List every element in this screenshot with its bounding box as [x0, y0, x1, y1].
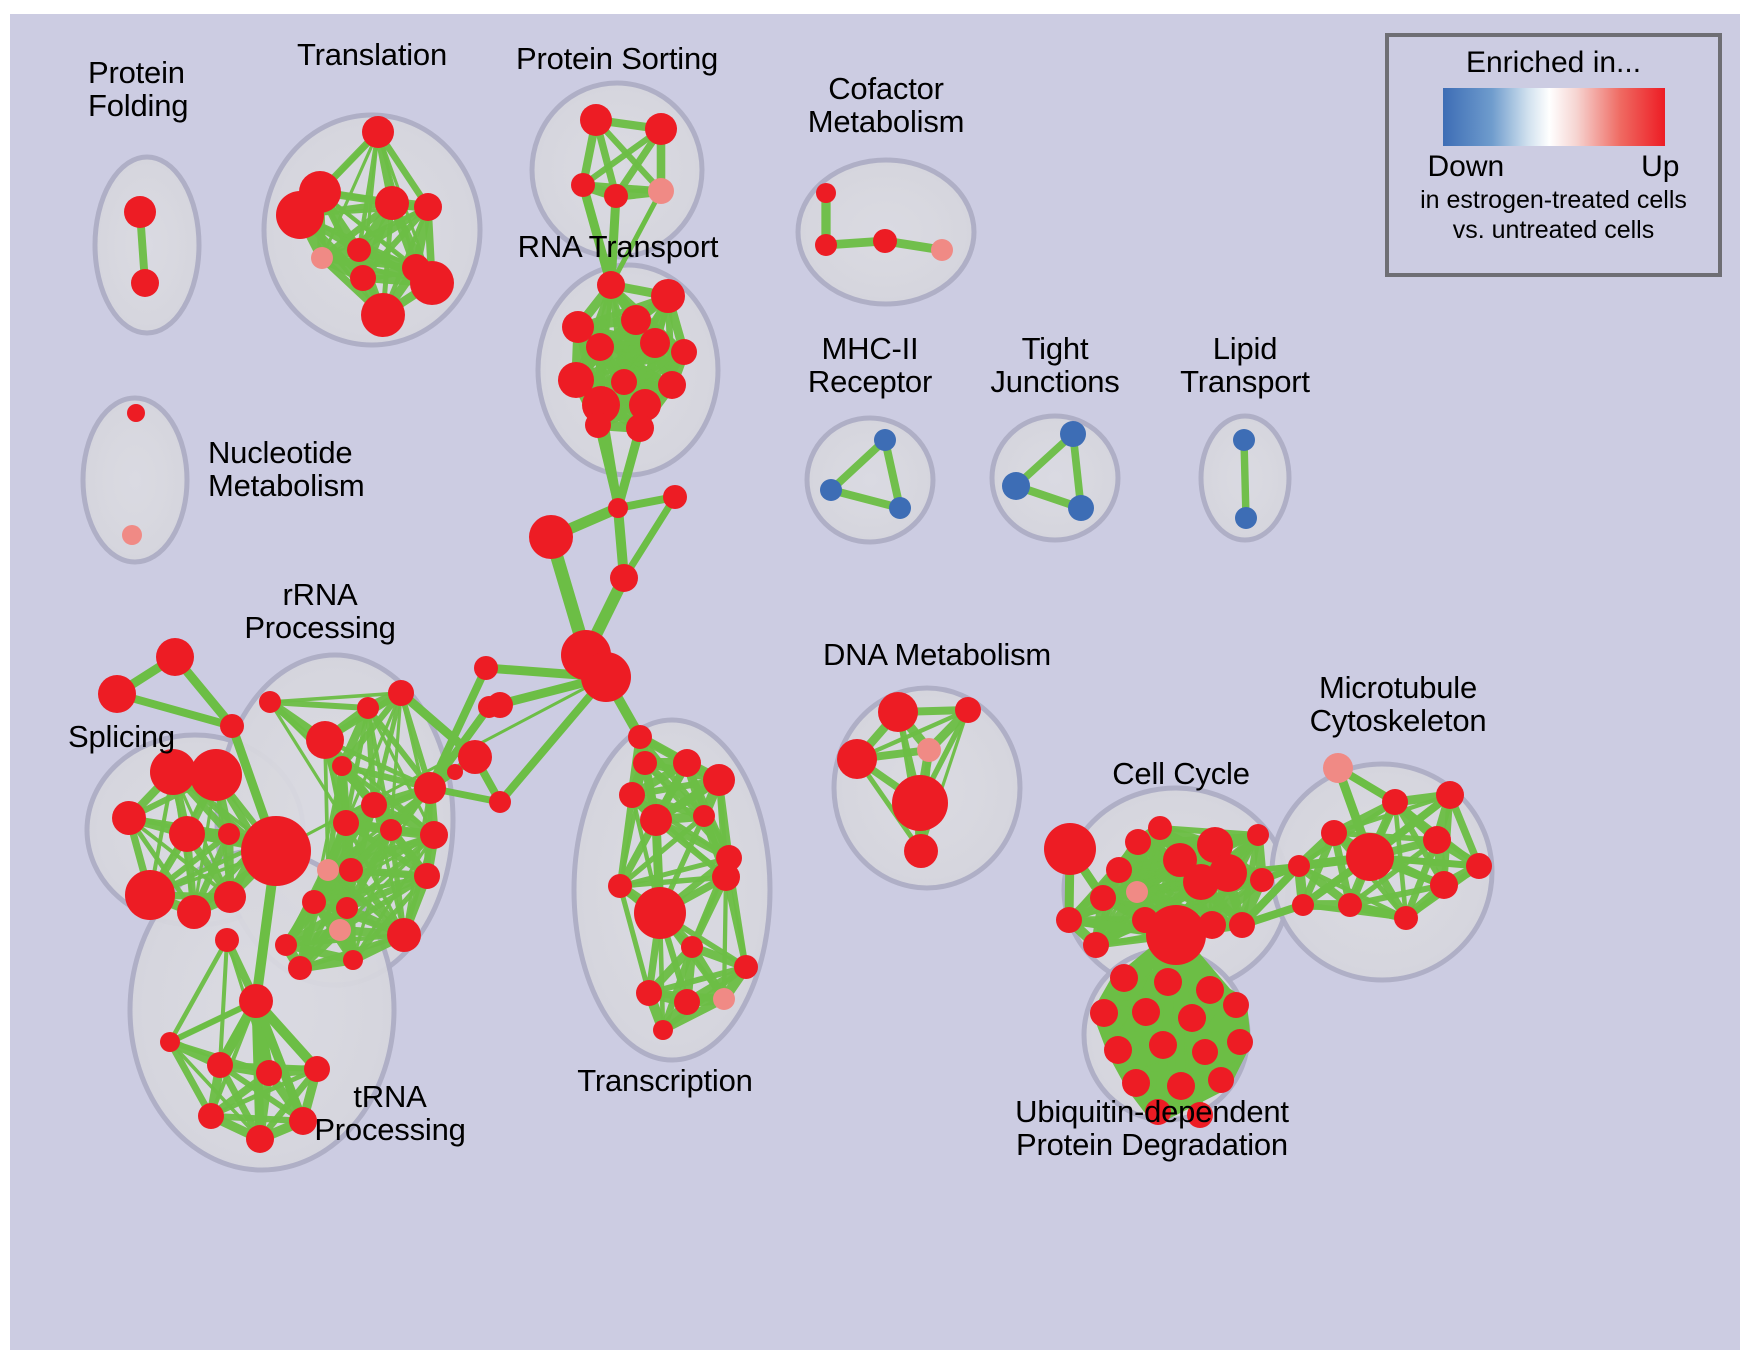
network-node[interactable]	[611, 369, 637, 395]
network-node[interactable]	[1292, 894, 1314, 916]
network-node[interactable]	[220, 714, 244, 738]
network-node[interactable]	[621, 305, 651, 335]
network-node[interactable]	[362, 116, 394, 148]
network-node[interactable]	[1382, 789, 1408, 815]
network-node[interactable]	[1068, 495, 1094, 521]
cluster-label-rrna-processing: rRNA Processing	[244, 578, 395, 645]
network-node[interactable]	[1090, 885, 1116, 911]
network-node[interactable]	[190, 749, 242, 801]
cluster-label-transcription: Transcription	[577, 1064, 752, 1097]
network-node[interactable]	[311, 247, 333, 269]
legend-up-label: Up	[1641, 150, 1679, 184]
network-node[interactable]	[489, 791, 511, 813]
network-node[interactable]	[653, 1020, 673, 1040]
network-node[interactable]	[1110, 964, 1138, 992]
cluster-label-nucleotide-metabolism: Nucleotide Metabolism	[208, 436, 365, 503]
network-node[interactable]	[633, 751, 657, 775]
network-node[interactable]	[288, 956, 312, 980]
network-node[interactable]	[693, 805, 715, 827]
network-node[interactable]	[1338, 893, 1362, 917]
network-node[interactable]	[1394, 906, 1418, 930]
network-node[interactable]	[1126, 881, 1148, 903]
network-node[interactable]	[361, 293, 405, 337]
network-node[interactable]	[1229, 912, 1255, 938]
network-node[interactable]	[414, 193, 442, 221]
network-node[interactable]	[1132, 998, 1160, 1026]
network-node[interactable]	[640, 804, 672, 836]
legend-panel: Enriched in... Down Up in estrogen-treat…	[1385, 33, 1722, 277]
legend-subtitle-line-2: vs. untreated cells	[1453, 216, 1655, 246]
edge	[724, 877, 726, 999]
network-node[interactable]	[816, 183, 836, 203]
network-node[interactable]	[734, 955, 758, 979]
network-node[interactable]	[1247, 824, 1269, 846]
cluster-label-lipid-transport: Lipid Transport	[1180, 332, 1310, 399]
network-node[interactable]	[663, 485, 687, 509]
cluster-label-protein-sorting: Protein Sorting	[516, 42, 718, 75]
legend-down-label: Down	[1428, 150, 1505, 184]
network-node[interactable]	[160, 1032, 180, 1052]
network-node[interactable]	[712, 863, 740, 891]
network-node[interactable]	[241, 816, 311, 886]
network-node[interactable]	[658, 371, 686, 399]
network-node[interactable]	[1198, 911, 1226, 939]
network-node[interactable]	[713, 988, 735, 1010]
network-node[interactable]	[343, 950, 363, 970]
network-node[interactable]	[585, 412, 611, 438]
network-node[interactable]	[837, 739, 877, 779]
network-node[interactable]	[892, 775, 948, 831]
network-node[interactable]	[1060, 421, 1086, 447]
network-node[interactable]	[177, 895, 211, 929]
network-node[interactable]	[1423, 826, 1451, 854]
network-node[interactable]	[275, 934, 297, 956]
network-node[interactable]	[198, 1103, 224, 1129]
network-node[interactable]	[640, 328, 670, 358]
network-node[interactable]	[304, 1056, 330, 1082]
network-node[interactable]	[1208, 1067, 1234, 1093]
network-node[interactable]	[169, 816, 205, 852]
network-node[interactable]	[410, 261, 454, 305]
network-node[interactable]	[276, 191, 324, 239]
network-node[interactable]	[648, 178, 674, 204]
network-node[interactable]	[388, 680, 414, 706]
network-node[interactable]	[246, 1125, 274, 1153]
network-node[interactable]	[904, 834, 938, 868]
network-node[interactable]	[619, 782, 645, 808]
network-node[interactable]	[131, 269, 159, 297]
network-node[interactable]	[703, 764, 735, 796]
network-node[interactable]	[150, 749, 196, 795]
network-node[interactable]	[597, 271, 625, 299]
network-node[interactable]	[420, 821, 448, 849]
network-node[interactable]	[529, 515, 573, 559]
network-node[interactable]	[361, 792, 387, 818]
network-node[interactable]	[207, 1052, 233, 1078]
network-node[interactable]	[581, 652, 631, 702]
network-node[interactable]	[1154, 968, 1182, 996]
network-node[interactable]	[98, 675, 136, 713]
network-node[interactable]	[889, 497, 911, 519]
network-node[interactable]	[1106, 857, 1132, 883]
legend-endpoints: Down Up	[1428, 150, 1680, 184]
network-node[interactable]	[1223, 992, 1249, 1018]
network-node[interactable]	[414, 772, 446, 804]
network-node[interactable]	[673, 749, 701, 777]
network-node[interactable]	[917, 738, 941, 762]
cluster-label-microtubule-cytoskeleton: Microtubule Cytoskeleton	[1310, 671, 1487, 738]
network-node[interactable]	[1233, 429, 1255, 451]
cluster-label-protein-folding: Protein Folding	[88, 56, 188, 123]
cluster-label-mhc-ii-receptor: MHC-II Receptor	[808, 332, 932, 399]
network-node[interactable]	[1146, 905, 1206, 965]
network-node[interactable]	[329, 919, 351, 941]
network-node[interactable]	[651, 279, 685, 313]
network-node[interactable]	[874, 429, 896, 451]
network-node[interactable]	[1044, 823, 1096, 875]
network-node[interactable]	[127, 404, 145, 422]
network-node[interactable]	[1250, 868, 1274, 892]
cluster-label-trna-processing: tRNA Processing	[314, 1080, 465, 1147]
network-node[interactable]	[447, 764, 463, 780]
network-node[interactable]	[487, 692, 513, 718]
network-node[interactable]	[1183, 864, 1219, 900]
network-node[interactable]	[1323, 753, 1353, 783]
network-node[interactable]	[1149, 1031, 1177, 1059]
cluster-label-translation: Translation	[297, 38, 447, 71]
network-node[interactable]	[671, 339, 697, 365]
cluster-label-splicing: Splicing	[68, 720, 175, 753]
network-node[interactable]	[347, 238, 371, 262]
network-node[interactable]	[332, 756, 352, 776]
network-node[interactable]	[580, 104, 612, 136]
network-node[interactable]	[674, 989, 700, 1015]
network-node[interactable]	[256, 1060, 282, 1086]
network-node[interactable]	[122, 525, 142, 545]
network-node[interactable]	[1288, 855, 1310, 877]
network-node[interactable]	[1148, 816, 1172, 840]
network-node[interactable]	[375, 186, 409, 220]
network-node[interactable]	[610, 564, 638, 592]
network-node[interactable]	[380, 819, 402, 841]
network-node[interactable]	[608, 498, 628, 518]
network-node[interactable]	[215, 928, 239, 952]
network-node[interactable]	[1090, 999, 1118, 1027]
network-node[interactable]	[626, 414, 654, 442]
network-node[interactable]	[306, 721, 344, 759]
network-node[interactable]	[1466, 853, 1492, 879]
network-node[interactable]	[458, 740, 492, 774]
network-node[interactable]	[387, 918, 421, 952]
network-node[interactable]	[1321, 820, 1347, 846]
network-node[interactable]	[681, 936, 703, 958]
network-node[interactable]	[339, 858, 363, 882]
network-node[interactable]	[124, 196, 156, 228]
network-node[interactable]	[1122, 1069, 1150, 1097]
cluster-label-rna-transport: RNA Transport	[518, 230, 719, 263]
network-node[interactable]	[317, 859, 339, 881]
cluster-label-cell-cycle: Cell Cycle	[1112, 757, 1250, 790]
network-node[interactable]	[636, 980, 662, 1006]
network-node[interactable]	[259, 691, 281, 713]
network-node[interactable]	[414, 863, 440, 889]
network-node[interactable]	[586, 333, 614, 361]
network-node[interactable]	[336, 897, 358, 919]
network-node[interactable]	[1227, 1029, 1253, 1055]
network-node[interactable]	[239, 984, 273, 1018]
network-node[interactable]	[628, 725, 652, 749]
cluster-label-cofactor-metabolism: Cofactor Metabolism	[808, 72, 965, 139]
cluster-ellipse-protein-folding[interactable]	[95, 157, 199, 333]
color-scale-bar	[1443, 88, 1665, 146]
network-node[interactable]	[873, 229, 897, 253]
network-node[interactable]	[955, 697, 981, 723]
network-node[interactable]	[1002, 472, 1030, 500]
network-node[interactable]	[878, 692, 918, 732]
network-node[interactable]	[214, 881, 246, 913]
network-node[interactable]	[1056, 907, 1082, 933]
edge	[1244, 440, 1246, 518]
network-node[interactable]	[333, 810, 359, 836]
network-node[interactable]	[815, 234, 837, 256]
network-node[interactable]	[1104, 1036, 1132, 1064]
network-node[interactable]	[218, 823, 240, 845]
network-node[interactable]	[1436, 781, 1464, 809]
network-node[interactable]	[1083, 932, 1109, 958]
cluster-label-ubiquitin-protein-degradation: Ubiquitin-dependent Protein Degradation	[1015, 1095, 1289, 1162]
network-node[interactable]	[571, 173, 595, 197]
network-node[interactable]	[474, 656, 498, 680]
network-node[interactable]	[1125, 829, 1151, 855]
network-node[interactable]	[931, 239, 953, 261]
network-node[interactable]	[634, 887, 686, 939]
network-node[interactable]	[302, 890, 326, 914]
network-node[interactable]	[156, 638, 194, 676]
network-node[interactable]	[1235, 507, 1257, 529]
network-node[interactable]	[1192, 1039, 1218, 1065]
network-node[interactable]	[289, 1107, 317, 1135]
network-node[interactable]	[1178, 1004, 1206, 1032]
legend-subtitle-line-1: in estrogen-treated cells	[1420, 186, 1687, 216]
network-node[interactable]	[112, 801, 146, 835]
cluster-label-tight-junctions: Tight Junctions	[990, 332, 1119, 399]
network-node[interactable]	[645, 113, 677, 145]
network-node[interactable]	[1430, 871, 1458, 899]
network-node[interactable]	[608, 874, 632, 898]
network-node[interactable]	[1346, 833, 1394, 881]
cluster-ellipse-mhc-ii-receptor[interactable]	[807, 418, 933, 542]
network-node[interactable]	[357, 697, 379, 719]
network-node[interactable]	[350, 265, 376, 291]
network-node[interactable]	[820, 479, 842, 501]
legend-title: Enriched in...	[1466, 46, 1641, 80]
network-node[interactable]	[604, 184, 628, 208]
cluster-label-dna-metabolism: DNA Metabolism	[823, 638, 1051, 671]
network-node[interactable]	[125, 870, 175, 920]
figure-canvas: Protein FoldingTranslationProtein Sortin…	[0, 0, 1750, 1360]
network-node[interactable]	[1196, 976, 1224, 1004]
